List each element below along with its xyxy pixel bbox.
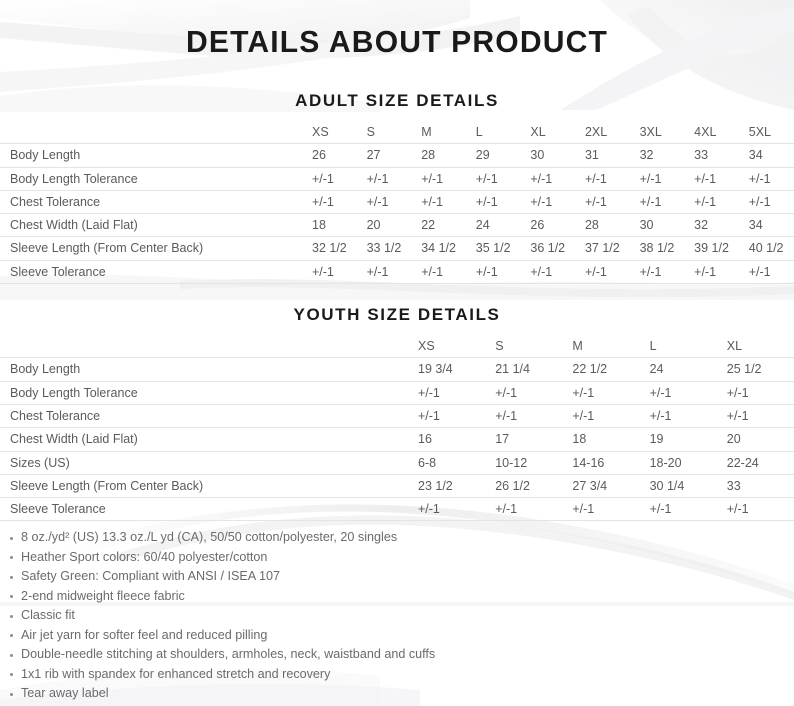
row-label: Chest Tolerance — [0, 190, 312, 213]
cell: 28 — [421, 144, 476, 167]
page-title: DETAILS ABOUT PRODUCT — [12, 0, 782, 60]
list-item: 2-end midweight fleece fabric — [0, 587, 600, 607]
cell: 22 1/2 — [572, 358, 649, 381]
list-item: 1x1 rib with spandex for enhanced stretc… — [0, 665, 600, 685]
adult-table-head: XS S M L XL 2XL 3XL 4XL 5XL — [0, 121, 794, 144]
table-header-row: XS S M L XL — [0, 335, 794, 358]
cell: 34 — [749, 214, 794, 237]
cell: +/-1 — [749, 260, 794, 283]
cell: +/-1 — [421, 167, 476, 190]
cell: +/-1 — [530, 260, 585, 283]
cell: +/-1 — [312, 260, 367, 283]
cell: 36 1/2 — [530, 237, 585, 260]
cell: 33 — [727, 474, 794, 497]
column-header: XL — [530, 121, 585, 144]
cell: +/-1 — [585, 260, 640, 283]
row-label: Chest Width (Laid Flat) — [0, 428, 418, 451]
row-label: Sizes (US) — [0, 451, 418, 474]
table-row: Chest Width (Laid Flat) 18 20 22 24 26 2… — [0, 214, 794, 237]
column-header: 4XL — [694, 121, 749, 144]
row-label: Chest Width (Laid Flat) — [0, 214, 312, 237]
row-label: Body Length — [0, 144, 312, 167]
cell: 30 — [640, 214, 695, 237]
row-label: Body Length Tolerance — [0, 167, 312, 190]
table-row: Sizes (US) 6-8 10-12 14-16 18-20 22-24 — [0, 451, 794, 474]
cell: 26 — [312, 144, 367, 167]
cell: +/-1 — [749, 167, 794, 190]
table-header-row: XS S M L XL 2XL 3XL 4XL 5XL — [0, 121, 794, 144]
cell: 38 1/2 — [640, 237, 695, 260]
cell: +/-1 — [367, 167, 422, 190]
cell: +/-1 — [727, 404, 794, 427]
row-label: Sleeve Length (From Center Back) — [0, 237, 312, 260]
cell: 10-12 — [495, 451, 572, 474]
cell: +/-1 — [694, 260, 749, 283]
row-label: Sleeve Tolerance — [0, 498, 418, 521]
cell: +/-1 — [367, 190, 422, 213]
cell: +/-1 — [312, 167, 367, 190]
column-header: L — [476, 121, 531, 144]
table-row: Sleeve Length (From Center Back) 23 1/2 … — [0, 474, 794, 497]
cell: 24 — [650, 358, 727, 381]
adult-section-header: ADULT SIZE DETAILS — [0, 60, 794, 111]
cell: 35 1/2 — [476, 237, 531, 260]
table-row: Sleeve Tolerance +/-1 +/-1 +/-1 +/-1 +/-… — [0, 260, 794, 283]
column-header: XS — [312, 121, 367, 144]
table-row: Body Length 19 3/4 21 1/4 22 1/2 24 25 1… — [0, 358, 794, 381]
cell: 39 1/2 — [694, 237, 749, 260]
cell: +/-1 — [727, 498, 794, 521]
cell: 28 — [585, 214, 640, 237]
cell: +/-1 — [312, 190, 367, 213]
adult-size-table: XS S M L XL 2XL 3XL 4XL 5XL Body Length … — [0, 121, 794, 284]
cell: +/-1 — [418, 404, 495, 427]
cell: 29 — [476, 144, 531, 167]
cell: 26 1/2 — [495, 474, 572, 497]
youth-size-details-title: YOUTH SIZE DETAILS — [0, 305, 794, 325]
row-label: Chest Tolerance — [0, 404, 418, 427]
cell: 17 — [495, 428, 572, 451]
list-item: Air jet yarn for softer feel and reduced… — [0, 626, 600, 646]
cell: 32 — [694, 214, 749, 237]
cell: +/-1 — [495, 498, 572, 521]
row-label: Body Length — [0, 358, 418, 381]
cell: +/-1 — [367, 260, 422, 283]
youth-table-body: Body Length 19 3/4 21 1/4 22 1/2 24 25 1… — [0, 358, 794, 521]
column-header: L — [650, 335, 727, 358]
row-label: Body Length Tolerance — [0, 381, 418, 404]
column-header: M — [421, 121, 476, 144]
cell: +/-1 — [421, 190, 476, 213]
product-details-page: DETAILS ABOUT PRODUCT ADULT SIZE DETAILS… — [0, 0, 794, 706]
cell: +/-1 — [694, 190, 749, 213]
column-header: 2XL — [585, 121, 640, 144]
cell: +/-1 — [418, 381, 495, 404]
cell: 20 — [727, 428, 794, 451]
cell: +/-1 — [640, 260, 695, 283]
cell: 32 1/2 — [312, 237, 367, 260]
cell: +/-1 — [640, 190, 695, 213]
cell: +/-1 — [727, 381, 794, 404]
cell: 27 3/4 — [572, 474, 649, 497]
cell: 19 3/4 — [418, 358, 495, 381]
cell: +/-1 — [585, 190, 640, 213]
table-row: Chest Tolerance +/-1 +/-1 +/-1 +/-1 +/-1 — [0, 404, 794, 427]
cell: 26 — [530, 214, 585, 237]
cell: 30 1/4 — [650, 474, 727, 497]
youth-section-header: YOUTH SIZE DETAILS — [0, 284, 794, 325]
list-item: 8 oz./yd² (US) 13.3 oz./L yd (CA), 50/50… — [0, 528, 600, 548]
cell: 25 1/2 — [727, 358, 794, 381]
table-row: Body Length 26 27 28 29 30 31 32 33 34 — [0, 144, 794, 167]
adult-table-body: Body Length 26 27 28 29 30 31 32 33 34 B… — [0, 144, 794, 284]
list-item: Safety Green: Compliant with ANSI / ISEA… — [0, 567, 600, 587]
column-header — [0, 121, 312, 144]
cell: 40 1/2 — [749, 237, 794, 260]
cell: 18 — [312, 214, 367, 237]
cell: +/-1 — [572, 498, 649, 521]
cell: 34 1/2 — [421, 237, 476, 260]
column-header: 3XL — [640, 121, 695, 144]
cell: 20 — [367, 214, 422, 237]
cell: 31 — [585, 144, 640, 167]
column-header: 5XL — [749, 121, 794, 144]
cell: 19 — [650, 428, 727, 451]
cell: +/-1 — [694, 167, 749, 190]
column-header: S — [495, 335, 572, 358]
column-header: XS — [418, 335, 495, 358]
cell: +/-1 — [421, 260, 476, 283]
table-row: Chest Tolerance +/-1 +/-1 +/-1 +/-1 +/-1… — [0, 190, 794, 213]
cell: 30 — [530, 144, 585, 167]
table-row: Sleeve Length (From Center Back) 32 1/2 … — [0, 237, 794, 260]
youth-size-table: XS S M L XL Body Length 19 3/4 21 1/4 22… — [0, 335, 794, 521]
cell: 23 1/2 — [418, 474, 495, 497]
table-row: Body Length Tolerance +/-1 +/-1 +/-1 +/-… — [0, 167, 794, 190]
column-header: XL — [727, 335, 794, 358]
list-item: Double-needle stitching at shoulders, ar… — [0, 645, 600, 665]
cell: 24 — [476, 214, 531, 237]
cell: 34 — [749, 144, 794, 167]
cell: +/-1 — [572, 381, 649, 404]
table-row: Body Length Tolerance +/-1 +/-1 +/-1 +/-… — [0, 381, 794, 404]
cell: +/-1 — [476, 260, 531, 283]
list-item: Classic fit — [0, 606, 600, 626]
cell: 18 — [572, 428, 649, 451]
cell: +/-1 — [495, 381, 572, 404]
cell: 14-16 — [572, 451, 649, 474]
row-label: Sleeve Tolerance — [0, 260, 312, 283]
youth-table-head: XS S M L XL — [0, 335, 794, 358]
column-header: M — [572, 335, 649, 358]
cell: 22-24 — [727, 451, 794, 474]
cell: 21 1/4 — [495, 358, 572, 381]
cell: +/-1 — [530, 190, 585, 213]
cell: 32 — [640, 144, 695, 167]
list-item: Tear away label — [0, 684, 600, 704]
cell: 16 — [418, 428, 495, 451]
cell: 33 — [694, 144, 749, 167]
cell: +/-1 — [418, 498, 495, 521]
cell: 27 — [367, 144, 422, 167]
cell: +/-1 — [640, 167, 695, 190]
column-header: S — [367, 121, 422, 144]
cell: +/-1 — [495, 404, 572, 427]
cell: 18-20 — [650, 451, 727, 474]
cell: +/-1 — [650, 381, 727, 404]
cell: +/-1 — [572, 404, 649, 427]
cell: +/-1 — [585, 167, 640, 190]
table-row: Chest Width (Laid Flat) 16 17 18 19 20 — [0, 428, 794, 451]
column-header — [0, 335, 418, 358]
cell: +/-1 — [476, 190, 531, 213]
cell: +/-1 — [476, 167, 531, 190]
cell: 33 1/2 — [367, 237, 422, 260]
list-item: Heather Sport colors: 60/40 polyester/co… — [0, 548, 600, 568]
cell: +/-1 — [650, 404, 727, 427]
adult-size-details-title: ADULT SIZE DETAILS — [0, 91, 794, 111]
cell: 6-8 — [418, 451, 495, 474]
cell: 22 — [421, 214, 476, 237]
cell: +/-1 — [650, 498, 727, 521]
product-features-list: 8 oz./yd² (US) 13.3 oz./L yd (CA), 50/50… — [0, 528, 600, 704]
cell: +/-1 — [530, 167, 585, 190]
row-label: Sleeve Length (From Center Back) — [0, 474, 418, 497]
cell: 37 1/2 — [585, 237, 640, 260]
cell: +/-1 — [749, 190, 794, 213]
table-row: Sleeve Tolerance +/-1 +/-1 +/-1 +/-1 +/-… — [0, 498, 794, 521]
